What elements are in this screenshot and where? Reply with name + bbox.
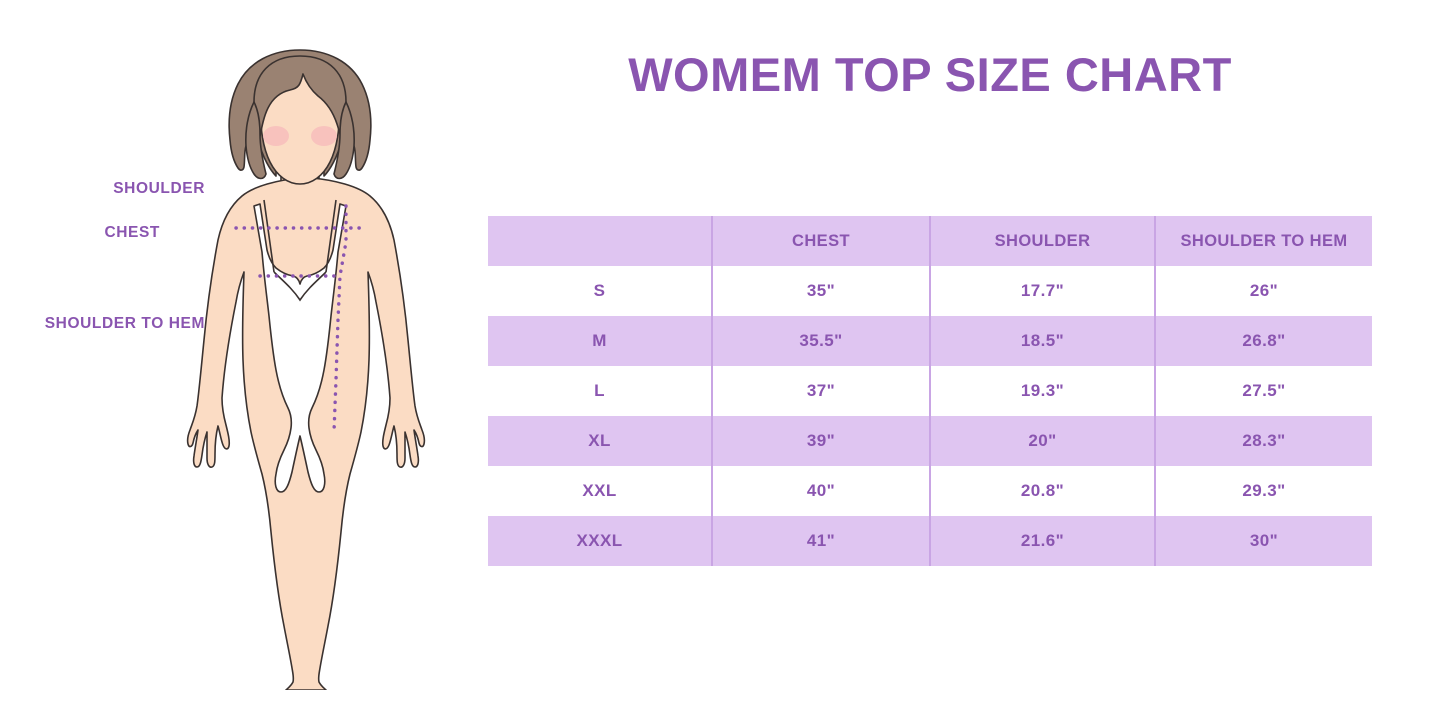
column-header-size (488, 216, 712, 266)
table-row: L 37" 19.3" 27.5" (488, 366, 1372, 416)
column-header-shoulder-to-hem: SHOULDER TO HEM (1155, 216, 1372, 266)
cell-shoulder: 20.8" (930, 466, 1155, 516)
measurement-label-shoulder: SHOULDER (113, 180, 205, 198)
cell-shoulder: 18.5" (930, 316, 1155, 366)
cell-chest: 41" (712, 516, 930, 566)
cell-shoulder: 17.7" (930, 266, 1155, 316)
table-body: S 35" 17.7" 26" M 35.5" 18.5" 26.8" L 37… (488, 266, 1372, 566)
cell-shoulder-to-hem: 26" (1155, 266, 1372, 316)
cell-shoulder-to-hem: 29.3" (1155, 466, 1372, 516)
cell-size: XXXL (488, 516, 712, 566)
cell-chest: 39" (712, 416, 930, 466)
cell-shoulder-to-hem: 30" (1155, 516, 1372, 566)
table-header: CHEST SHOULDER SHOULDER TO HEM (488, 216, 1372, 266)
cell-chest: 35" (712, 266, 930, 316)
page-title: WOMEM TOP SIZE CHART (488, 47, 1372, 102)
table-row: S 35" 17.7" 26" (488, 266, 1372, 316)
cell-shoulder-to-hem: 27.5" (1155, 366, 1372, 416)
size-chart-table: CHEST SHOULDER SHOULDER TO HEM S 35" 17.… (488, 216, 1372, 566)
table-header-row: CHEST SHOULDER SHOULDER TO HEM (488, 216, 1372, 266)
cell-chest: 40" (712, 466, 930, 516)
measurement-label-chest: CHEST (104, 224, 160, 242)
cell-size: XL (488, 416, 712, 466)
cell-shoulder: 20" (930, 416, 1155, 466)
blush-right-cheek (311, 126, 337, 146)
cell-size: M (488, 316, 712, 366)
cell-shoulder-to-hem: 26.8" (1155, 316, 1372, 366)
blush-left-cheek (263, 126, 289, 146)
cell-size: L (488, 366, 712, 416)
body-figure-illustration (150, 40, 460, 690)
table-row: XXL 40" 20.8" 29.3" (488, 466, 1372, 516)
cell-size: S (488, 266, 712, 316)
table-row: XXXL 41" 21.6" 30" (488, 516, 1372, 566)
cell-size: XXL (488, 466, 712, 516)
table-row: XL 39" 20" 28.3" (488, 416, 1372, 466)
cell-shoulder: 19.3" (930, 366, 1155, 416)
measurement-label-shoulder-to-hem: SHOULDER TO HEM (45, 315, 205, 333)
column-header-shoulder: SHOULDER (930, 216, 1155, 266)
cell-chest: 37" (712, 366, 930, 416)
column-header-chest: CHEST (712, 216, 930, 266)
table-row: M 35.5" 18.5" 26.8" (488, 316, 1372, 366)
cell-chest: 35.5" (712, 316, 930, 366)
cell-shoulder: 21.6" (930, 516, 1155, 566)
cell-shoulder-to-hem: 28.3" (1155, 416, 1372, 466)
